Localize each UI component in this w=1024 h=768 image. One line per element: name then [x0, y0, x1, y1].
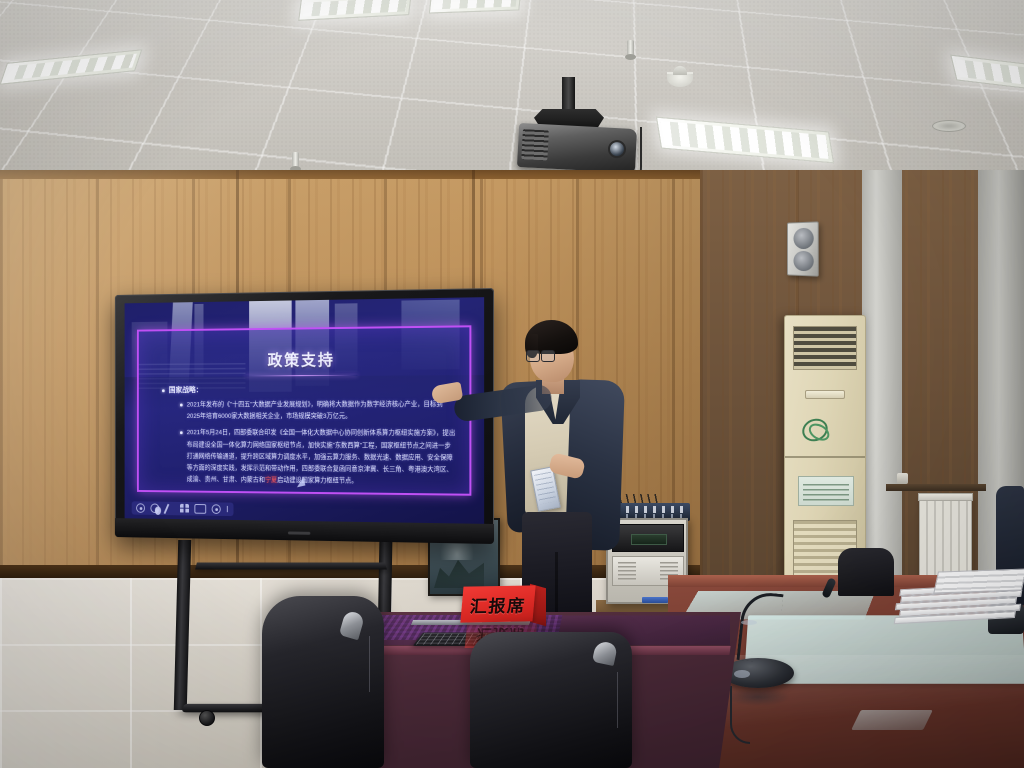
document-stack — [933, 568, 1024, 593]
cup-on-ledge — [897, 473, 908, 484]
interactive-flat-panel-display[interactable]: 政策支持 国家战略： 2021年发布的《"十四五"大数据产业发展规划》，明确将大… — [115, 288, 494, 544]
ac-display-panel — [805, 390, 845, 399]
chair-stitch-seam — [617, 672, 619, 728]
leather-conference-chair[interactable] — [838, 548, 894, 596]
slide-bullet-text: 2021年发布的《"十四五"大数据产业发展规划》，明确将大数据作为数字经济核心产… — [187, 399, 456, 423]
slide-bullet-text-tail: 启动建设国家算力枢纽节点。 — [277, 477, 357, 485]
leather-conference-chair[interactable] — [262, 596, 384, 768]
wall-column — [862, 170, 902, 590]
slide-bullet-level1: 国家战略： — [162, 383, 456, 395]
display-toolbar[interactable]: I — [132, 501, 233, 516]
oval-icon[interactable] — [212, 504, 221, 514]
grid-icon[interactable] — [180, 504, 189, 514]
cursor-icon[interactable]: I — [226, 504, 228, 514]
bullet-dot-icon — [180, 404, 182, 406]
speaker-driver-icon — [793, 251, 813, 271]
rectangle-icon[interactable] — [194, 504, 206, 514]
ceiling-vent-icon — [932, 120, 966, 132]
pen-icon[interactable] — [165, 504, 175, 514]
slide-bullet-text: 国家战略： — [169, 384, 203, 395]
wall-speaker — [787, 221, 819, 276]
stand-caster-wheel — [199, 710, 215, 726]
microphone-ring-icon — [741, 620, 757, 625]
power-icon[interactable] — [136, 503, 145, 513]
slide-title-underline — [245, 375, 357, 377]
speaker-driver-icon — [793, 228, 813, 249]
slide-bullet-text-group: 2021年5月24日，四部委联合印发《全国一体化大数据中心协同创新体系算力枢纽实… — [187, 428, 456, 489]
wall-ledge — [886, 484, 986, 491]
bullet-dot-icon — [180, 432, 182, 434]
display-stand-shelf — [195, 563, 387, 570]
ac-brand-logo-icon — [799, 415, 831, 445]
ac-top-louvers-icon — [793, 326, 857, 370]
slide-bullet-level2: 2021年发布的《"十四五"大数据产业发展规划》，明确将大数据作为数字经济核心产… — [180, 399, 456, 423]
ac-panel-seam — [785, 456, 865, 458]
microphone-cable — [730, 686, 750, 744]
ac-warning-label — [798, 476, 854, 506]
presenter-hair — [525, 320, 578, 354]
sprinkler-head-icon — [292, 152, 299, 168]
slide-bullet-text: 2021年5月24日，四部委联合印发《全国一体化大数据中心协同创新体系算力枢纽实… — [187, 430, 456, 484]
play-icon[interactable] — [150, 503, 159, 513]
table-surface-panel — [851, 710, 933, 730]
reporting-seat-sign-text: 汇报席 — [469, 591, 527, 617]
projector-vent-icon — [521, 129, 549, 160]
bullet-dot-icon — [162, 389, 164, 391]
slide-bullet-highlight: 宁夏 — [265, 477, 277, 484]
conference-room-photo: 政策支持 国家战略： 2021年发布的《"十四五"大数据产业发展规划》，明确将大… — [0, 0, 1024, 768]
presentation-slide[interactable]: 政策支持 国家战略： 2021年发布的《"十四五"大数据产业发展规划》，明确将大… — [137, 325, 471, 495]
reporting-seat-sign: 汇报席 — [460, 585, 535, 622]
presenter — [492, 316, 682, 616]
slide-bullet-level2: 2021年5月24日，四部委联合印发《全国一体化大数据中心协同创新体系算力枢纽实… — [180, 428, 456, 489]
slide-title: 政策支持 — [153, 345, 456, 371]
sprinkler-head-icon — [627, 40, 634, 56]
projector-mount-pole — [562, 77, 575, 113]
display-panel[interactable]: 政策支持 国家战略： 2021年发布的《"十四五"大数据产业发展规划》，明确将大… — [125, 297, 485, 524]
chair-stitch-seam — [369, 636, 371, 692]
eyeglasses-icon — [526, 350, 556, 361]
